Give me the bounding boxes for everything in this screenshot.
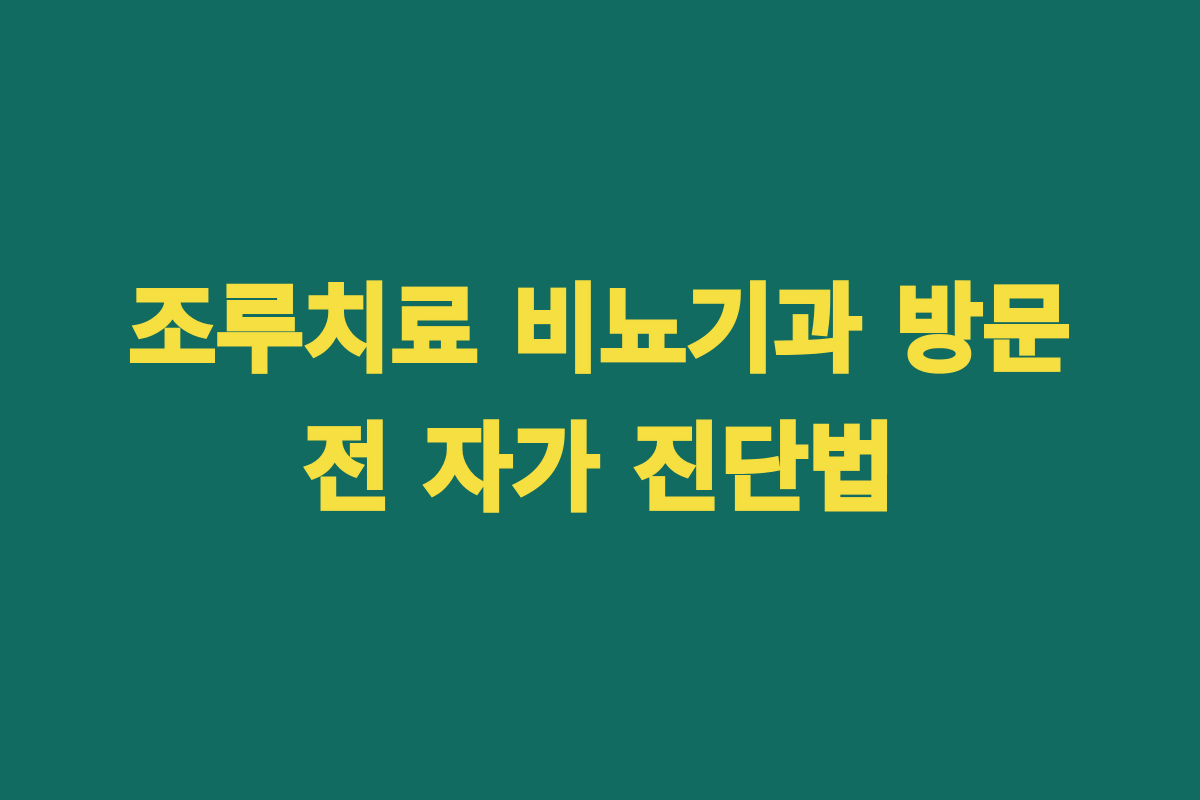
title-line-1: 조루치료 비뇨기과 방문: [70, 261, 1130, 400]
title-banner: 조루치료 비뇨기과 방문 전 자가 진단법: [0, 0, 1200, 800]
title-line-2: 전 자가 진단법: [70, 400, 1130, 539]
page-title: 조루치료 비뇨기과 방문 전 자가 진단법: [70, 261, 1130, 539]
